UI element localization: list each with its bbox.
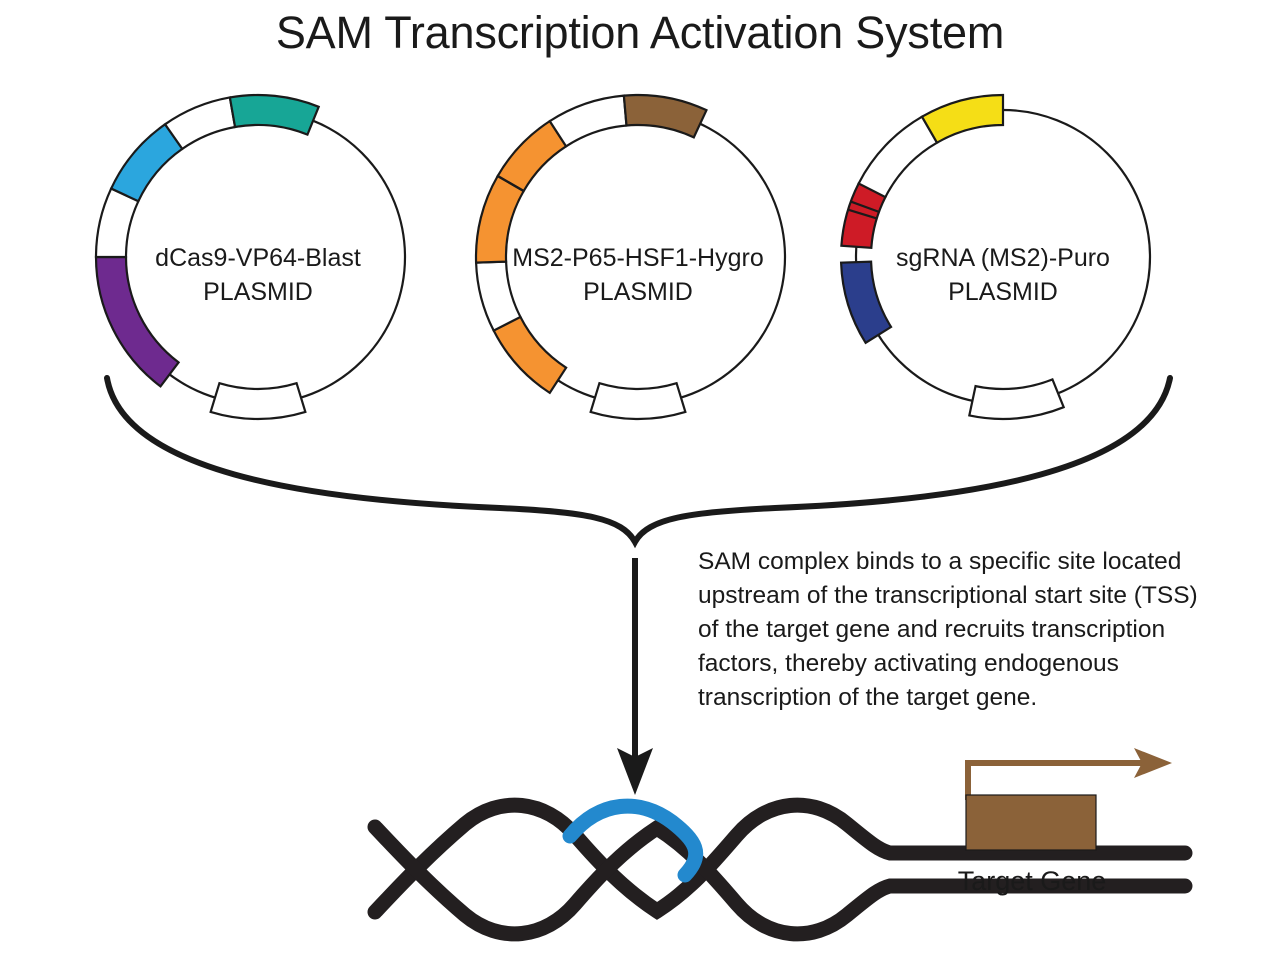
diagram-canvas: SAM Transcription Activation System dCas… [0,0,1280,960]
promoter-box [969,379,1063,419]
sam-system-figure: SAM Transcription Activation System dCas… [0,0,1280,960]
blast-segment [230,95,319,135]
promoter-box [591,383,686,419]
white-spacer-segment [859,117,937,197]
annotation-line-0: SAM complex binds to a specific site loc… [698,548,1181,575]
dcas9-vp64-segment [96,257,179,386]
puro-segment [922,95,1003,143]
plasmid-sgrna-ms2-puro-subtitle: PLASMID [948,278,1058,306]
promoter-box [211,383,306,419]
hygro-segment [624,95,707,137]
u6-segment [841,262,891,343]
annotation-line-3: factors, thereby activating endogenous [698,650,1119,677]
annotation-line-1: upstream of the transcriptional start si… [698,582,1198,609]
ms2-segment [494,317,566,393]
annotation-text-block: SAM complex binds to a specific site loc… [698,548,1198,711]
target-gene-label: Target Gene [958,866,1107,896]
plasmid-dcas9-vp64-blast-name: dCas9-VP64-Blast [155,244,361,272]
white-spacer-segment [165,97,235,148]
plasmid-ms2-p65-hsf1-hygro-subtitle: PLASMID [583,278,693,306]
cyan-segment [111,124,182,201]
plasmid-sgrna-ms2-puro-name: sgRNA (MS2)-Puro [896,244,1110,272]
plasmid-dcas9-vp64-blast-subtitle: PLASMID [203,278,313,306]
target-gene-box [966,795,1096,850]
process-arrow [617,558,653,795]
plasmid-ms2-p65-hsf1-hygro: MS2-P65-HSF1-HygroPLASMID [476,95,785,419]
page-title: SAM Transcription Activation System [276,7,1004,58]
plasmid-dcas9-vp64-blast: dCas9-VP64-BlastPLASMID [96,95,405,419]
white-spacer-segment [550,96,627,147]
annotation-line-2: of the target gene and recruits transcri… [698,616,1165,643]
plasmid-group: dCas9-VP64-BlastPLASMIDMS2-P65-HSF1-Hygr… [96,95,1150,419]
annotation-line-4: transcription of the target gene. [698,684,1037,711]
plasmid-ms2-p65-hsf1-hygro-name: MS2-P65-HSF1-Hygro [512,244,763,272]
target-gene-group: Target Gene [958,748,1172,896]
plasmid-sgrna-ms2-puro: sgRNA (MS2)-PuroPLASMID [841,95,1150,419]
